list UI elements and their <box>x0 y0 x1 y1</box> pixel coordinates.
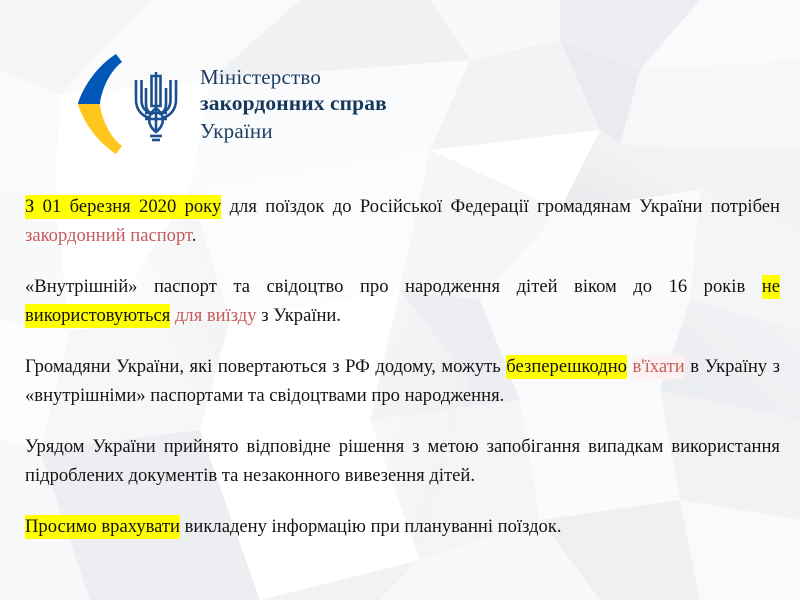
ukraine-trident-emblem-icon <box>128 66 184 146</box>
highlighted-text: безперешкодно <box>506 355 627 379</box>
emphasis-red-text: для виїзду <box>175 305 257 326</box>
ministry-title-line-3: України <box>200 118 387 144</box>
body-text: Громадяни України, які повертаються з РФ… <box>25 356 506 377</box>
paragraph-p5: Просимо врахувати викладену інформацію п… <box>25 512 780 541</box>
body-text <box>627 356 633 377</box>
paragraph-p1: З 01 березня 2020 року для поїздок до Ро… <box>25 192 780 250</box>
emphasis-red-text: закордонний паспорт <box>25 225 192 246</box>
ministry-title-block: Міністерство закордонних справ України <box>200 64 387 144</box>
announcement-body: З 01 березня 2020 року для поїздок до Ро… <box>25 192 780 541</box>
paragraph-p2: «Внутрішній» паспорт та свідоцтво про на… <box>25 272 780 330</box>
ministry-logo-lockup: Міністерство закордонних справ України <box>72 52 387 156</box>
highlighted-text: Просимо врахувати <box>25 515 180 539</box>
paragraph-p4: Урядом України прийнято відповідне рішен… <box>25 432 780 490</box>
ministry-title-line-1: Міністерство <box>200 64 387 90</box>
paragraph-p3: Громадяни України, які повертаються з РФ… <box>25 352 780 410</box>
announcement-slide: Міністерство закордонних справ України З… <box>0 0 800 600</box>
ministry-title-line-2: закордонних справ <box>200 90 387 117</box>
body-text: з України. <box>257 305 341 326</box>
body-text: для поїздок до Російської Федерації гром… <box>221 196 780 217</box>
body-text: «Внутрішній» паспорт та свідоцтво про на… <box>25 276 762 297</box>
emphasis-red-highlighted-text: в'їхати <box>633 355 685 379</box>
body-text: Урядом України прийнято відповідне рішен… <box>25 436 780 486</box>
ukraine-flag-arc-icon <box>72 52 124 156</box>
highlighted-text: З 01 березня 2020 року <box>25 195 221 219</box>
body-text: . <box>192 225 197 246</box>
body-text: викладену інформацію при плануванні поїз… <box>180 516 562 537</box>
